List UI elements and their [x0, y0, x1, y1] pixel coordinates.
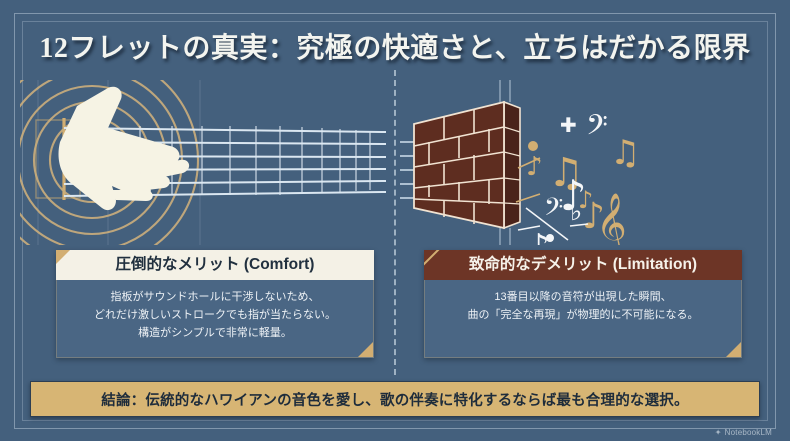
corner-ornament-icon: [358, 342, 373, 357]
card-limitation-body: 13番目以降の音符が出現した瞬間、 曲の「完全な再現」が物理的に不可能になる。: [424, 280, 742, 358]
corner-slash-icon: [424, 250, 441, 267]
svg-text:𝄢: 𝄢: [586, 109, 608, 149]
notebooklm-watermark-label: NotebookLM: [725, 428, 772, 437]
card-comfort: 圧倒的なメリット (Comfort) 指板がサウンドホールに干渉しないため、 ど…: [56, 250, 374, 358]
card-comfort-line-1: 指板がサウンドホールに干渉しないため、: [57, 289, 373, 307]
card-limitation-line-2: 曲の「完全な再現」が物理的に不可能になる。: [425, 307, 741, 325]
section-divider: [394, 70, 396, 375]
page-title: 12フレットの真実：究極の快適さと、立ちはだかる限界: [0, 26, 790, 66]
card-comfort-header-label: 圧倒的なメリット (Comfort): [116, 256, 315, 273]
card-comfort-line-2: どれだけ激しいストロークでも指が当たらない。: [57, 307, 373, 325]
svg-text:✚: ✚: [560, 113, 577, 137]
svg-text:♪: ♪: [560, 171, 587, 220]
corner-ornament-icon: [726, 342, 741, 357]
card-comfort-body: 指板がサウンドホールに干渉しないため、 どれだけ激しいストロークでも指が当たらな…: [56, 280, 374, 358]
svg-text:𝄞: 𝄞: [596, 193, 627, 245]
card-limitation-header: 致命的なデメリット (Limitation): [424, 250, 742, 280]
svg-text:♪: ♪: [526, 152, 543, 182]
conclusion-text: 結論：伝統的なハワイアンの音色を愛し、歌の伴奏に特化するならば最も合理的な選択。: [101, 389, 688, 410]
card-limitation-line-1: 13番目以降の音符が出現した瞬間、: [425, 289, 741, 307]
svg-text:♫: ♫: [610, 133, 640, 173]
hand-fretboard-svg: [20, 80, 390, 245]
card-limitation: 致命的なデメリット (Limitation) 13番目以降の音符が出現した瞬間、…: [424, 250, 742, 358]
card-comfort-header: 圧倒的なメリット (Comfort): [56, 250, 374, 280]
notebooklm-watermark: ✦ NotebookLM: [715, 428, 772, 437]
illustration-brick-wall-blocking-notes: ♪ ♫ ♫ ♪ 𝄞 ♪ ✚ 𝄢 𝄢 ♭ ♪ ♪: [400, 80, 775, 245]
card-limitation-header-label: 致命的なデメリット (Limitation): [469, 256, 697, 273]
conclusion-bar: 結論：伝統的なハワイアンの音色を愛し、歌の伴奏に特化するならば最も合理的な選択。: [30, 381, 760, 417]
svg-text:♪: ♪: [528, 227, 550, 245]
card-comfort-line-3: 構造がシンプルで非常に軽量。: [57, 325, 373, 343]
sparkle-icon: ✦: [715, 429, 722, 437]
illustration-hand-strumming-fretboard: [20, 80, 390, 245]
corner-ornament-icon: [56, 250, 70, 264]
brick-wall-notes-svg: ♪ ♫ ♫ ♪ 𝄞 ♪ ✚ 𝄢 𝄢 ♭ ♪ ♪: [400, 80, 775, 245]
